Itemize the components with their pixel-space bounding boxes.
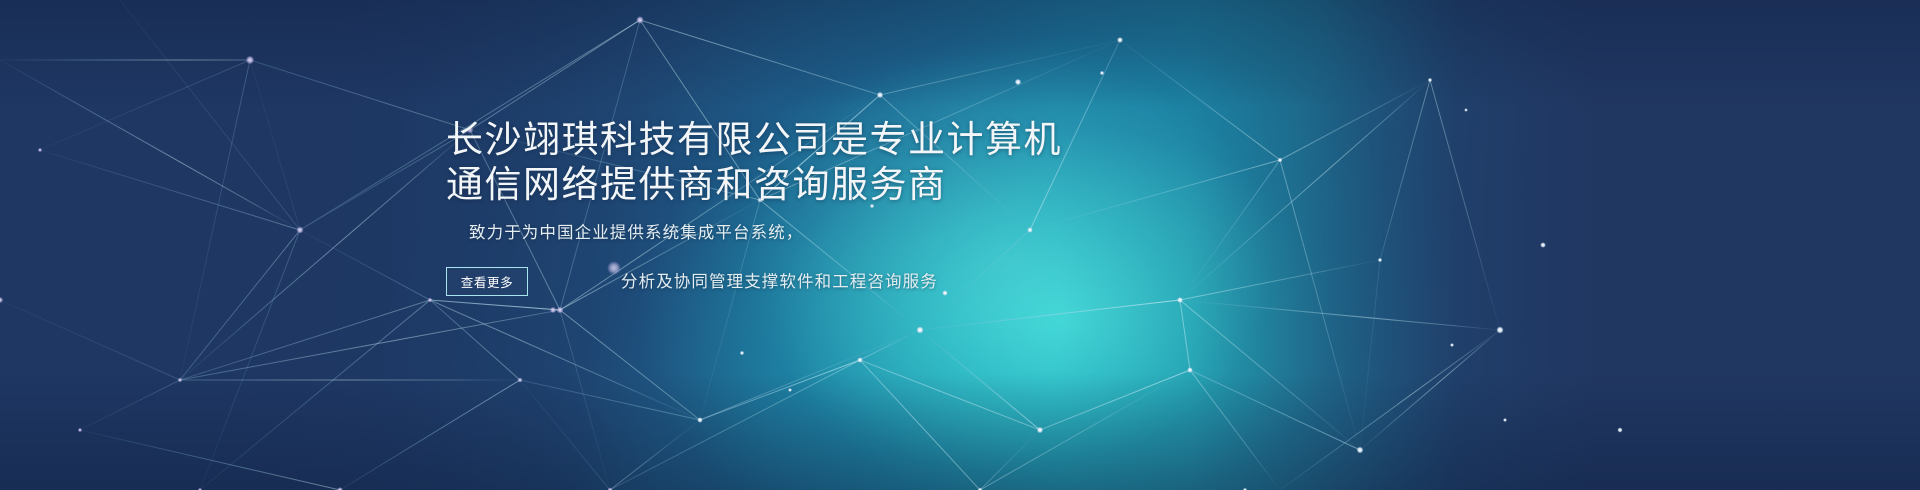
cta-and-subtitle-row: 查看更多 分析及协同管理支撑软件和工程咨询服务 bbox=[446, 267, 1506, 296]
view-more-button[interactable]: 查看更多 bbox=[446, 267, 528, 296]
banner-content: 长沙翊琪科技有限公司是专业计算机 通信网络提供商和咨询服务商 致力于为中国企业提… bbox=[446, 118, 1506, 296]
subtitle-line-2: 分析及协同管理支撑软件和工程咨询服务 bbox=[621, 270, 938, 294]
subtitle-block: 致力于为中国企业提供系统集成平台系统， 查看更多 分析及协同管理支撑软件和工程咨… bbox=[446, 221, 1506, 296]
hero-banner: 长沙翊琪科技有限公司是专业计算机 通信网络提供商和咨询服务商 致力于为中国企业提… bbox=[0, 0, 1920, 490]
headline-line-1: 长沙翊琪科技有限公司是专业计算机 bbox=[446, 118, 1506, 163]
headline-line-2: 通信网络提供商和咨询服务商 bbox=[446, 163, 1506, 208]
subtitle-line-1: 致力于为中国企业提供系统集成平台系统， bbox=[446, 221, 1506, 245]
